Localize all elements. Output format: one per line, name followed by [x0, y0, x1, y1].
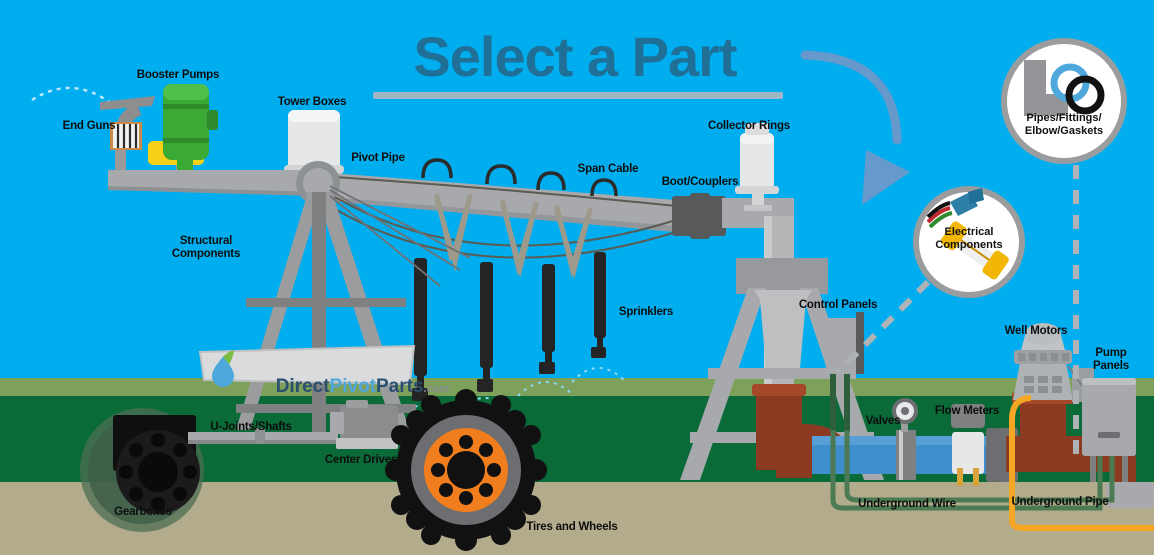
label-structural[interactable]: Structural Components — [163, 235, 249, 261]
label-underground-wire[interactable]: Underground Wire — [851, 498, 963, 511]
label-control-panels[interactable]: Control Panels — [792, 299, 884, 312]
label-gearboxes[interactable]: Gearboxes — [107, 506, 179, 519]
label-flow-meters[interactable]: Flow Meters — [928, 405, 1006, 418]
label-well-motors[interactable]: Well Motors — [997, 325, 1075, 338]
badge-label-pipes[interactable]: Pipes/Fittings/ Elbow/Gaskets — [1004, 112, 1124, 137]
brand-logo[interactable]: DirectPivotParts.com — [196, 344, 418, 388]
label-collector-rings[interactable]: Collector Rings — [700, 120, 798, 133]
label-u-joints[interactable]: U-Joints/Shafts — [203, 421, 299, 434]
label-pump-panels[interactable]: Pump Panels — [1084, 347, 1138, 373]
title-underline — [373, 92, 783, 99]
boot-coupler — [672, 193, 726, 239]
label-underground-pipe[interactable]: Underground Pipe — [1004, 496, 1116, 509]
pivot-parts-infographic: Select a Part DirectPivotParts.com Pipes… — [0, 0, 1154, 555]
page-title: Select a Part — [360, 24, 790, 89]
logo-direct: Direct — [276, 376, 330, 397]
label-valves[interactable]: Valves — [860, 415, 906, 428]
label-tower-boxes[interactable]: Tower Boxes — [271, 96, 353, 109]
label-center-drives[interactable]: Center Drives — [316, 454, 406, 467]
badge-label-electrical[interactable]: Electrical Components — [914, 226, 1024, 251]
label-end-guns[interactable]: End Guns — [54, 120, 124, 133]
logo-tld: .com — [424, 383, 450, 395]
label-booster-pumps[interactable]: Booster Pumps — [130, 69, 226, 82]
label-sprinklers[interactable]: Sprinklers — [613, 306, 679, 319]
label-pivot-pipe[interactable]: Pivot Pipe — [345, 152, 411, 165]
logo-pivot: Pivot — [330, 376, 376, 397]
label-boot-couplers[interactable]: Boot/Couplers — [653, 176, 747, 189]
badge-pipes-fittings — [1004, 41, 1124, 161]
label-tires-wheels[interactable]: Tires and Wheels — [520, 521, 624, 534]
logo-parts: Parts — [376, 376, 424, 397]
label-span-cable[interactable]: Span Cable — [571, 163, 645, 176]
